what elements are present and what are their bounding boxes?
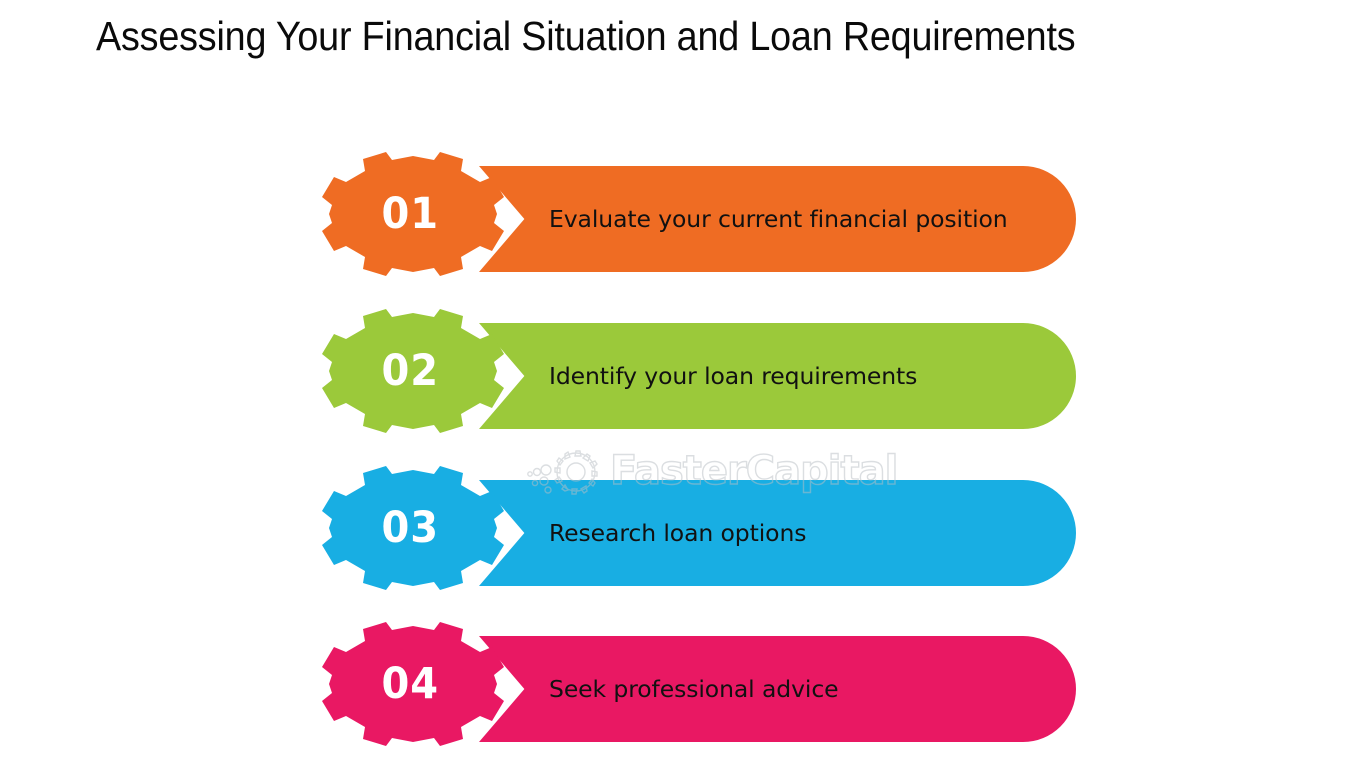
step-gear-badge[interactable]: 04 <box>318 622 508 746</box>
step-gear-badge[interactable]: 02 <box>318 309 508 433</box>
step-row[interactable]: Identify your loan requirements 02 <box>0 309 1350 433</box>
gear-icon <box>318 309 508 433</box>
gear-icon <box>318 466 508 590</box>
step-bar[interactable]: Seek professional advice <box>479 636 1076 742</box>
step-row[interactable]: Seek professional advice 04 <box>0 622 1350 746</box>
step-bar[interactable]: Evaluate your current financial position <box>479 166 1076 272</box>
step-gear-badge[interactable]: 01 <box>318 152 508 276</box>
step-row[interactable]: Evaluate your current financial position… <box>0 152 1350 276</box>
gear-icon <box>318 152 508 276</box>
step-bar[interactable]: Research loan options <box>479 480 1076 586</box>
gear-icon <box>318 622 508 746</box>
step-gear-badge[interactable]: 03 <box>318 466 508 590</box>
step-row[interactable]: Research loan options 03 <box>0 466 1350 590</box>
step-label: Identify your loan requirements <box>549 360 1039 392</box>
steps-list: Evaluate your current financial position… <box>0 0 1350 769</box>
step-bar[interactable]: Identify your loan requirements <box>479 323 1076 429</box>
step-label: Research loan options <box>549 517 1039 549</box>
step-label: Seek professional advice <box>549 673 1039 705</box>
step-label: Evaluate your current financial position <box>549 203 1039 235</box>
